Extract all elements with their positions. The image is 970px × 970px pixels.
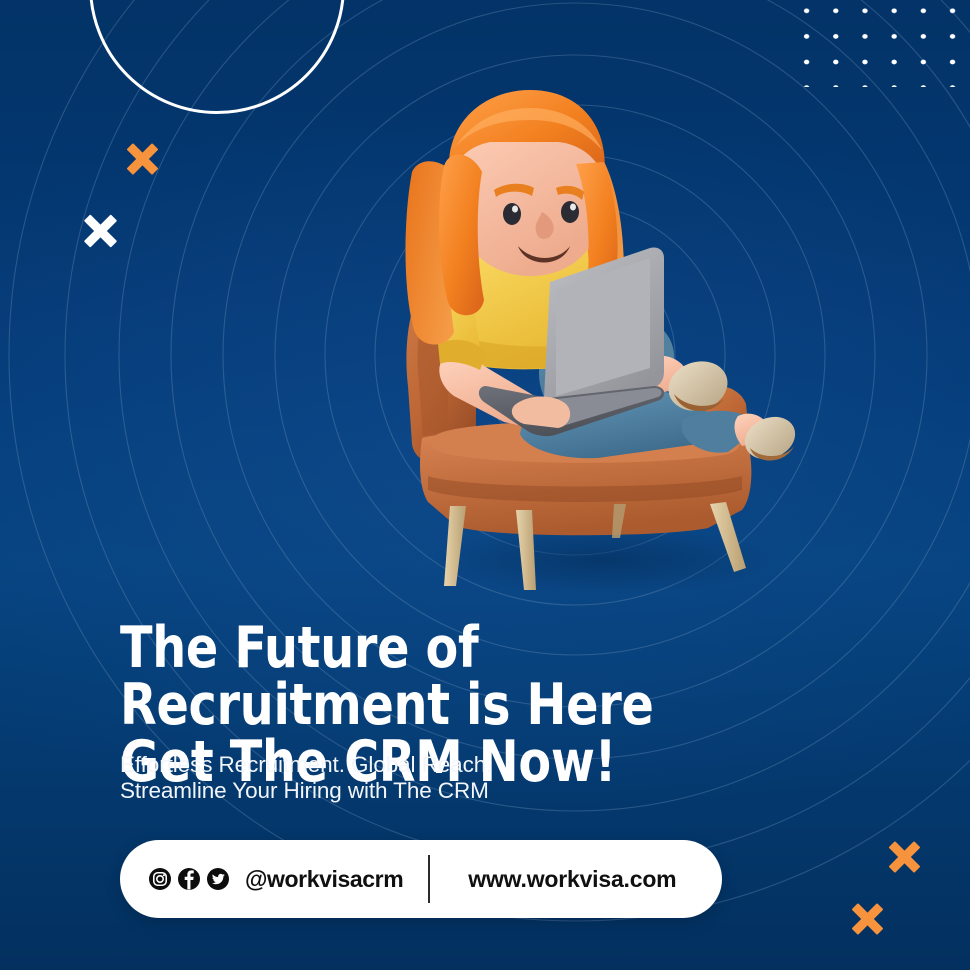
contact-bar: @workvisacrm www.workvisa.com xyxy=(120,840,722,918)
social-handle[interactable]: @workvisacrm xyxy=(245,866,403,893)
x-mark-white-top-left xyxy=(81,212,119,250)
twitter-icon[interactable] xyxy=(207,868,229,890)
promo-poster: The Future of Recruitment is Here Get Th… xyxy=(0,0,970,970)
x-mark-orange-bottom-right-upper xyxy=(886,839,922,875)
hero-circle-outline xyxy=(89,0,345,114)
website-url[interactable]: www.workvisa.com xyxy=(468,866,676,893)
illustration-woman-with-laptop xyxy=(398,86,798,596)
page-subheadline: Effortless Recruitment. Global Reach. St… xyxy=(120,752,740,803)
instagram-icon[interactable] xyxy=(149,868,171,890)
x-mark-orange-bottom-right-lower xyxy=(849,901,885,937)
x-mark-orange-top-left xyxy=(124,141,160,177)
dot-grid-decoration xyxy=(789,0,970,87)
social-icons-group xyxy=(149,868,229,890)
pill-divider xyxy=(428,855,430,903)
facebook-icon[interactable] xyxy=(178,868,200,890)
